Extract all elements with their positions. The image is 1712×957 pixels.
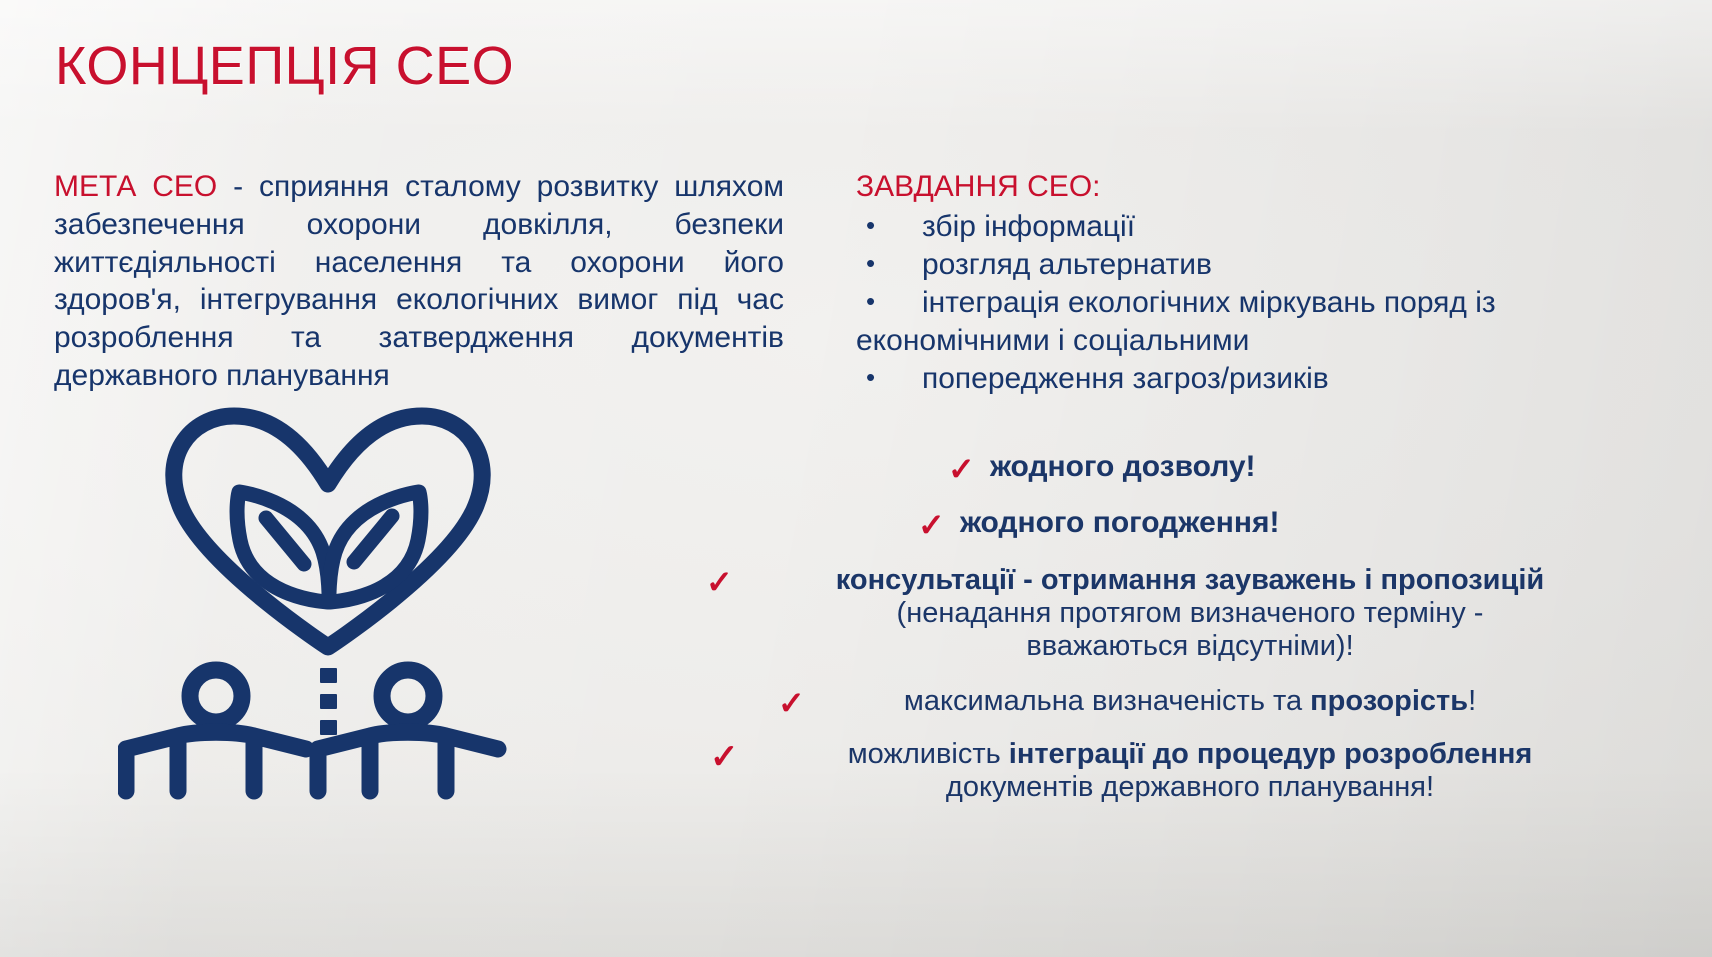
- check-item-no-approval: ✓ жодного погодження!: [690, 506, 1690, 540]
- person-right-body-icon: [318, 732, 498, 791]
- check-item-integration-label: можливість інтеграції до процедур розроб…: [690, 738, 1690, 771]
- check-icon: ✓: [948, 453, 975, 485]
- person-left-head-icon: [190, 670, 242, 722]
- check-icon: ✓: [710, 740, 739, 774]
- check-item-transparency-text: максимальна визначеність та: [904, 685, 1310, 717]
- check-item-transparency-emphasis: прозорість: [1310, 685, 1468, 717]
- check-item-transparency: ✓ максимальна визначеність та прозорість…: [690, 685, 1690, 718]
- purpose-lead-label: МЕТА СЕО: [54, 170, 217, 203]
- task-item-4-label: попередження загроз/ризиків: [922, 360, 1696, 398]
- bullet-dot-icon: •: [856, 284, 922, 320]
- task-item-2-label: розгляд альтернатив: [922, 246, 1696, 284]
- heart-with-leaves-and-people-illustration: [118, 406, 538, 801]
- person-left-body-icon: [126, 732, 306, 791]
- check-item-integration-emphasis: інтеграції до процедур розроблення: [1009, 738, 1533, 770]
- purpose-paragraph: МЕТА СЕО - сприяння сталому розвитку шля…: [54, 168, 784, 395]
- task-item-3-continuation: економічними і соціальними: [856, 322, 1696, 360]
- page-title: КОНЦЕПЦІЯ СЕО: [55, 38, 514, 95]
- bullet-dot-icon: •: [856, 246, 922, 282]
- purpose-body-text: - сприяння сталому розвитку шляхом забез…: [54, 170, 784, 392]
- check-icon: ✓: [706, 566, 733, 598]
- check-item-integration: ✓ можливість інтеграції до процедур розр…: [690, 738, 1690, 804]
- check-item-consultations: ✓ консультації - отримання зауважень і п…: [690, 564, 1690, 663]
- purpose-block: МЕТА СЕО - сприяння сталому розвитку шля…: [54, 168, 784, 395]
- check-icon: ✓: [778, 687, 805, 719]
- task-item-2: • розгляд альтернатив: [856, 246, 1696, 284]
- person-right-head-icon: [382, 670, 434, 722]
- tasks-heading: ЗАВДАННЯ СЕО:: [856, 168, 1696, 206]
- slide-canvas: КОНЦЕПЦІЯ СЕО МЕТА СЕО - сприяння сталом…: [0, 0, 1712, 957]
- dotted-stem-icon: [320, 668, 337, 735]
- check-item-no-permit: ✓ жодного дозволу!: [690, 450, 1690, 484]
- heart-outline-icon: [174, 416, 482, 647]
- check-icon: ✓: [918, 509, 945, 541]
- tasks-block: ЗАВДАННЯ СЕО: • збір інформації • розгля…: [856, 168, 1696, 398]
- check-item-consultations-note-line-2: вважаються відсутніми)!: [690, 630, 1690, 663]
- check-item-no-approval-label: жодного погодження!: [960, 506, 1280, 539]
- leaf-pair-icon: [237, 492, 421, 602]
- check-item-integration-text: можливість: [848, 738, 1009, 770]
- task-item-1: • збір інформації: [856, 208, 1696, 246]
- bullet-dot-icon: •: [856, 208, 922, 244]
- two-people-icon: [126, 670, 498, 791]
- check-item-transparency-label: максимальна визначеність та прозорість!: [690, 685, 1690, 718]
- task-item-4: • попередження загроз/ризиків: [856, 360, 1696, 398]
- checklist-block: ✓ жодного дозволу! ✓ жодного погодження!…: [690, 438, 1690, 806]
- task-item-1-label: збір інформації: [922, 208, 1696, 246]
- check-item-transparency-tail: !: [1468, 685, 1476, 717]
- bullet-dot-icon: •: [856, 360, 922, 396]
- check-item-consultations-note-line-1: (ненадання протягом визначеного терміну …: [690, 597, 1690, 630]
- check-item-integration-line-2: документів державного планування!: [690, 771, 1690, 804]
- check-item-consultations-label: консультації - отримання зауважень і про…: [690, 564, 1690, 597]
- task-item-3: • інтеграція екологічних міркувань поряд…: [856, 284, 1696, 322]
- check-item-no-permit-label: жодного дозволу!: [990, 450, 1256, 483]
- task-item-3-label: інтеграція екологічних міркувань поряд і…: [922, 284, 1696, 322]
